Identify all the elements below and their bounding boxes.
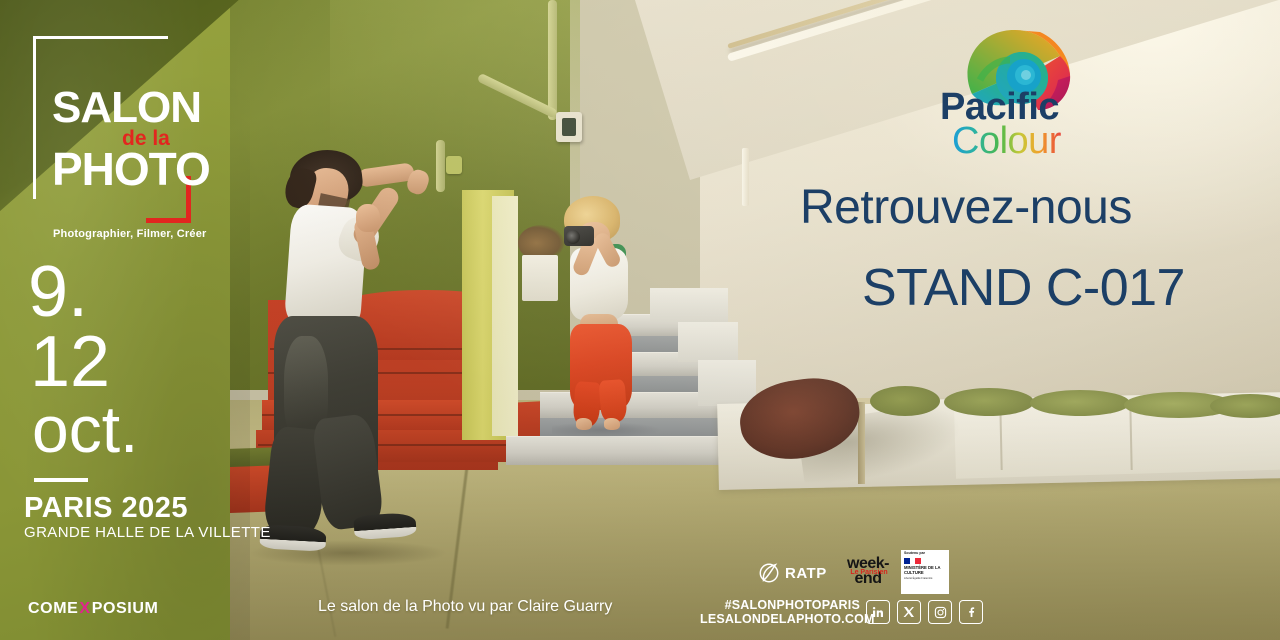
figure-woman bbox=[548, 196, 668, 428]
date-underline bbox=[34, 478, 88, 482]
colour-wordmark: Colour bbox=[952, 122, 1061, 160]
event-city: PARIS 2025 bbox=[24, 492, 188, 525]
comexposium-part1: COME bbox=[28, 600, 78, 618]
ministry-supported-by: Soutenu par bbox=[904, 552, 946, 556]
le-parisien-overlay: Le Parisien bbox=[845, 569, 893, 576]
woman-leg-right bbox=[599, 379, 628, 423]
photo-credit-caption: Le salon de la Photo vu par Claire Guarr… bbox=[318, 598, 612, 616]
comexposium-logo: COMEXPOSIUM bbox=[28, 600, 158, 618]
date-day-start: 9. bbox=[28, 260, 88, 325]
ratp-label: RATP bbox=[785, 565, 827, 582]
downpipe-vertical bbox=[548, 0, 557, 120]
man-hand-lower bbox=[356, 204, 380, 232]
comexposium-x-icon: X bbox=[79, 600, 90, 618]
logo-salon-text: SALON bbox=[52, 86, 201, 130]
ministry-motto: Liberté Égalité Fraternité bbox=[904, 577, 946, 580]
hashtag-text: #SALONPHOTOPARIS bbox=[700, 598, 860, 612]
promotional-banner: SALON de la PHOTO Photographier, Filmer,… bbox=[0, 0, 1280, 640]
ministry-of-culture-logo: Soutenu par MINISTÈRE DE LA CULTURE Libe… bbox=[901, 550, 949, 594]
website-text: LESALONDELAPHOTO.COM bbox=[700, 612, 860, 626]
facebook-icon[interactable] bbox=[959, 600, 983, 624]
succulent-green bbox=[870, 386, 940, 416]
salon-de-la-photo-logo: SALON de la PHOTO bbox=[26, 28, 208, 228]
logo-tagline: Photographier, Filmer, Créer bbox=[53, 228, 207, 240]
french-flag-icon bbox=[904, 558, 921, 564]
stair-side-block bbox=[698, 360, 756, 406]
man-sneaker-front bbox=[353, 512, 417, 540]
succulent-green bbox=[944, 388, 1034, 416]
social-icons[interactable] bbox=[866, 600, 983, 624]
succulent-green bbox=[1210, 394, 1280, 418]
x-twitter-icon[interactable] bbox=[897, 600, 921, 624]
wall-vent bbox=[556, 112, 582, 142]
figure-man bbox=[262, 148, 452, 558]
stair-side-block bbox=[678, 322, 738, 362]
ratp-logo-icon bbox=[758, 562, 780, 584]
headline-line-2: STAND C-017 bbox=[862, 258, 1185, 318]
comexposium-part2: POSIUM bbox=[92, 600, 159, 618]
social-text-block: #SALONPHOTOPARIS LESALONDELAPHOTO.COM bbox=[700, 598, 860, 627]
ratp-partner-logo: RATP bbox=[758, 562, 827, 584]
woman-foot-left bbox=[576, 418, 592, 430]
headline-line-1: Retrouvez-nous bbox=[800, 180, 1132, 235]
handrail-post bbox=[742, 148, 749, 206]
woman-foot-right bbox=[604, 418, 620, 430]
date-month: oct. bbox=[32, 400, 138, 459]
weekend-le-parisien-logo: week- end Le Parisien bbox=[843, 556, 893, 592]
instagram-icon[interactable] bbox=[928, 600, 952, 624]
succulent-green bbox=[1030, 390, 1130, 416]
event-venue: GRANDE HALLE DE LA VILLETTE bbox=[24, 524, 271, 541]
date-day-end: 12 bbox=[30, 330, 110, 395]
camera-lens-icon bbox=[566, 230, 580, 244]
logo-photo-text: PHOTO bbox=[52, 146, 210, 192]
ministry-title: MINISTÈRE DE LA CULTURE bbox=[904, 566, 946, 576]
linkedin-icon[interactable] bbox=[866, 600, 890, 624]
